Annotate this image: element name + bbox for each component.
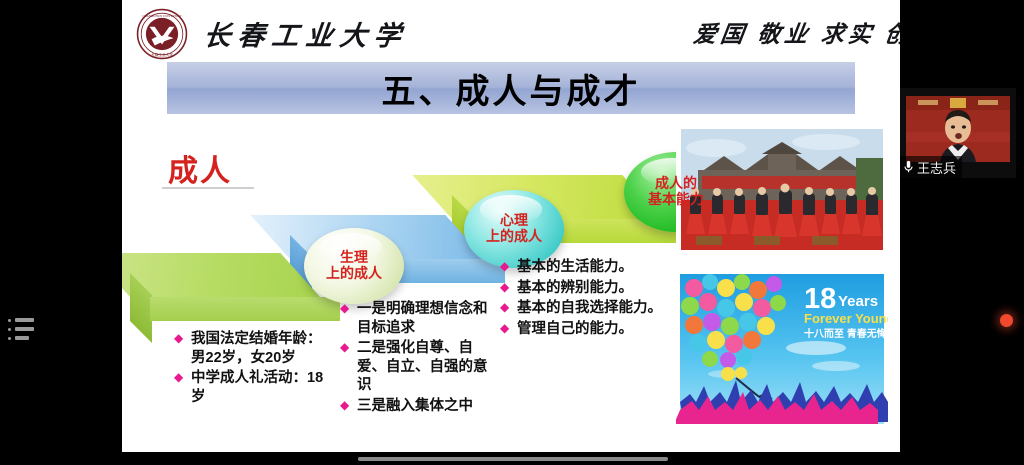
bubble-2-line1: 心理 (486, 213, 542, 229)
bullet-item: 基本的辨别能力。 (500, 279, 690, 298)
svg-text:Years: Years (838, 293, 878, 310)
bullet-list-psychological-adult: 一是明确理想信念和目标追求 二是强化自尊、自爱、自立、自强的意识 三是融入集体之… (340, 300, 498, 417)
bullet-item: 中学成人礼活动：18岁 (174, 369, 324, 406)
participant-video-tile[interactable]: 王志兵 (900, 88, 1016, 178)
bubble-physiological-adult: 生理 上的成人 (304, 228, 404, 304)
bullet-item: 一是明确理想信念和目标追求 (340, 300, 498, 337)
slide-title-banner: 五、成人与成才 (167, 62, 855, 114)
bullet-list-physiological-adult: 我国法定结婚年龄：男22岁，女20岁 中学成人礼活动：18岁 (174, 330, 324, 408)
menu-icon-row (8, 336, 40, 340)
presentation-slide: CHANGCHUN UNIVERSITY 长春工业大学 长春工业大学 爱国 敬业… (122, 0, 900, 452)
bubble-1-line2: 上的成人 (326, 266, 382, 282)
step-platform-1-front (150, 297, 340, 321)
slide-title: 五、成人与成才 (382, 64, 641, 113)
meeting-screen-share-view: CHANGCHUN UNIVERSITY 长春工业大学 长春工业大学 爱国 敬业… (0, 0, 1024, 465)
bullet-item: 三是融入集体之中 (340, 397, 498, 416)
microphone-icon (903, 160, 914, 174)
photo-balloons-18-years: 18 Years Forever Young 十八而至 青春无悔 (676, 270, 888, 428)
bubble-1-line1: 生理 (326, 250, 382, 266)
svg-text:长春工业大学: 长春工业大学 (151, 52, 173, 57)
bullet-item: 基本的自我选择能力。 (500, 299, 690, 318)
bullet-list-basic-abilities: 基本的生活能力。 基本的辨别能力。 基本的自我选择能力。 管理自己的能力。 (500, 258, 690, 340)
left-rail (0, 0, 48, 465)
bullet-item: 我国法定结婚年龄：男22岁，女20岁 (174, 330, 324, 367)
university-name: 长春工业大学 (202, 14, 410, 53)
bubble-3-line1: 成人的 (648, 176, 704, 192)
university-seal-logo: CHANGCHUN UNIVERSITY 长春工业大学 (136, 8, 188, 60)
bubble-psychological-adult: 心理 上的成人 (464, 190, 564, 268)
bullet-item: 基本的生活能力。 (500, 258, 690, 277)
section-heading-underline (162, 187, 254, 189)
svg-text:十八而至 青春无悔: 十八而至 青春无悔 (804, 327, 887, 340)
svg-text:Forever Young: Forever Young (804, 311, 888, 326)
bullet-item: 管理自己的能力。 (500, 320, 690, 339)
bubble-2-line2: 上的成人 (486, 229, 542, 245)
step-platform-1-top (122, 253, 320, 297)
menu-icon-row (8, 318, 40, 322)
bullet-item: 二是强化自尊、自爱、自立、自强的意识 (340, 339, 498, 395)
horizontal-scrollbar-thumb[interactable] (358, 457, 668, 461)
participant-name-chip: 王志兵 (900, 156, 962, 178)
list-menu-icon[interactable] (8, 312, 40, 346)
participant-name: 王志兵 (917, 158, 956, 177)
svg-text:CHANGCHUN UNIVERSITY: CHANGCHUN UNIVERSITY (142, 14, 182, 18)
slide-header: CHANGCHUN UNIVERSITY 长春工业大学 长春工业大学 爱国 敬业… (122, 0, 900, 62)
recording-dot[interactable] (1000, 314, 1013, 327)
horizontal-scrollbar-track[interactable] (122, 452, 900, 465)
bubble-3-line2: 基本能力 (648, 192, 704, 208)
photo-coming-of-age-ceremony (676, 124, 888, 255)
university-motto: 爱国 敬业 求实 创新 (692, 15, 900, 49)
menu-icon-row (8, 327, 40, 331)
